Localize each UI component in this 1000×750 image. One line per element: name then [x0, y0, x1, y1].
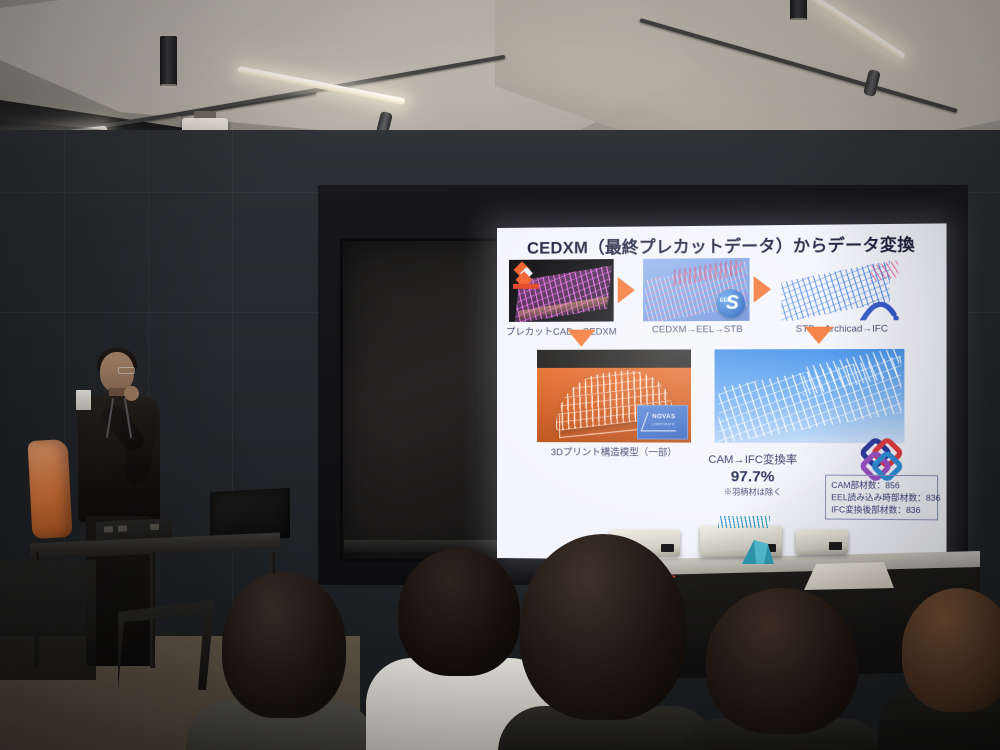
slide-image-3d-print-model: NOVAS CORPORATE	[537, 349, 691, 442]
eel-logo-icon: EEL S	[717, 289, 746, 318]
arrow-right-1	[618, 277, 635, 303]
wall-flat-panel-display	[340, 238, 508, 562]
audience-member-2	[398, 548, 520, 676]
cylinder-pendant-light-left	[160, 36, 177, 86]
arrow-right-2	[754, 276, 772, 303]
caption-3d-print-model: 3Dプリント構造模型（一部）	[531, 444, 697, 459]
arrow-down-left	[567, 330, 595, 347]
conversion-rate-value: 97.7%	[689, 468, 817, 486]
stat-ifc-parts: IFC変換後部材数：836	[831, 503, 931, 516]
cylinder-pendant-light-right	[790, 0, 807, 20]
orange-coat-on-chair	[27, 439, 72, 539]
audience-member-3	[520, 534, 686, 720]
caption-precut-cad: プレカットCAD→CEDXM	[501, 323, 622, 338]
arrow-down-right	[804, 327, 833, 344]
slide-image-precut-cad	[509, 259, 614, 322]
audience-member-4	[706, 588, 858, 734]
presentation-photo-scene: CEDXM（最終プレカットデータ）からデータ変換 プレカットCAD→CEDXM …	[0, 0, 1000, 750]
archicad-logo-icon	[858, 294, 900, 321]
presenter-glasses	[118, 367, 135, 374]
stat-cam-parts: CAM部材数：856	[831, 479, 931, 492]
architectural-model-blue	[718, 516, 770, 528]
slide-image-ifc-model	[715, 349, 905, 443]
architectural-model-teal	[738, 534, 778, 566]
novas-logo-icon: NOVAS CORPORATE	[637, 405, 688, 439]
novas-logo-text: NOVAS	[652, 414, 675, 420]
eel-logo-mark: S	[726, 290, 739, 316]
audience-member-1	[222, 572, 346, 718]
archicad-mesh-tip	[871, 260, 898, 281]
novas-logo-sub: CORPORATE	[651, 422, 674, 426]
caption-stb-archicad-ifc: STB→Archicad→IFC	[773, 322, 911, 334]
conversion-rate-note: ※羽柄材は除く	[689, 486, 817, 498]
statistics-box: CAM部材数：856 EEL読み込み時部材数：836 IFC変換後部材数：836	[825, 475, 938, 521]
slide-image-stb-archicad-ifc	[782, 257, 903, 321]
chair-center	[0, 560, 96, 680]
stat-eel-parts: EEL読み込み時部材数：836	[831, 491, 931, 504]
display-pedestal-3	[796, 530, 848, 554]
presenter-lanyard	[108, 398, 130, 442]
caption-cedxm-eel-stb: CEDXM→EEL→STB	[638, 323, 757, 335]
audience-member-5	[902, 588, 1000, 712]
slide-image-cedxm-eel-stb: EEL S	[643, 258, 749, 321]
sp-logo-icon	[513, 263, 539, 289]
conversion-rate-label: CAM→IFC変換率	[708, 454, 797, 467]
conversion-rate-block: CAM→IFC変換率 97.7% ※羽柄材は除く	[689, 451, 817, 498]
presenter-name-badge	[76, 390, 91, 410]
projected-slide: CEDXM（最終プレカットデータ）からデータ変換 プレカットCAD→CEDXM …	[497, 223, 947, 562]
slide-title: CEDXM（最終プレカットデータ）からデータ変換	[509, 231, 934, 259]
